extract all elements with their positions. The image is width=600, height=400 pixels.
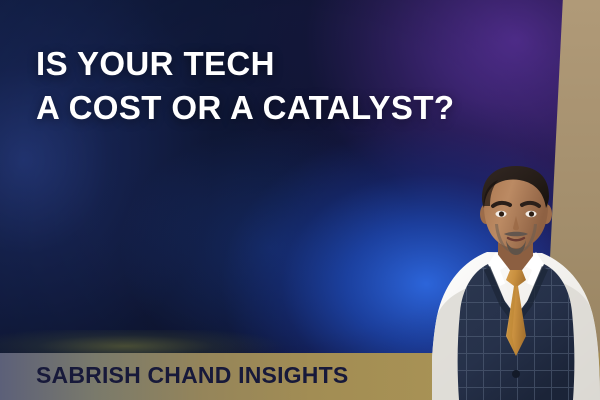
headline-line-2: A COST OR A CATALYST? bbox=[36, 86, 454, 130]
presenter-portrait bbox=[432, 166, 600, 400]
headline-line-1: IS YOUR TECH bbox=[36, 42, 454, 86]
promo-graphic: IS YOUR TECH A COST OR A CATALYST? SABRI… bbox=[0, 0, 600, 400]
pupil-right bbox=[529, 211, 534, 216]
waistcoat-button bbox=[512, 370, 520, 378]
brand-title: SABRISH CHAND INSIGHTS bbox=[36, 362, 348, 389]
headline: IS YOUR TECH A COST OR A CATALYST? bbox=[36, 42, 454, 130]
pupil-left bbox=[499, 211, 504, 216]
